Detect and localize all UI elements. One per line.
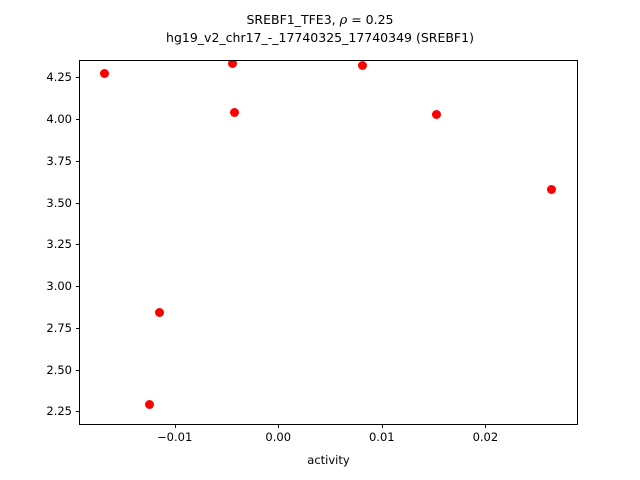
x-axis-tick-label: 0.02 — [473, 430, 499, 444]
x-axis-tick-label: −0.01 — [157, 430, 192, 444]
y-axis-tick — [76, 328, 80, 329]
x-axis-tick — [382, 424, 383, 428]
data-point — [100, 69, 109, 78]
data-point — [432, 110, 441, 119]
y-axis-tick-label: 2.75 — [46, 321, 72, 335]
y-axis-tick-label: 3.75 — [46, 154, 72, 168]
plot-axes: 2.252.502.753.003.253.503.754.004.25−0.0… — [79, 60, 578, 425]
y-axis-tick-label: 2.25 — [46, 404, 72, 418]
x-axis-tick — [485, 424, 486, 428]
data-point — [145, 400, 154, 409]
data-point — [155, 308, 164, 317]
chart-title-block: SREBF1_TFE3, ρ = 0.25 hg19_v2_chr17_-_17… — [0, 11, 640, 46]
y-axis-tick — [76, 244, 80, 245]
y-axis-tick — [76, 370, 80, 371]
chart-title-line-1: SREBF1_TFE3, ρ = 0.25 — [0, 11, 640, 29]
y-axis-tick — [76, 286, 80, 287]
y-axis-tick-label: 3.50 — [46, 196, 72, 210]
y-axis-tick-label: 2.50 — [46, 363, 72, 377]
y-axis-tick — [76, 161, 80, 162]
plot-data-area — [80, 61, 577, 424]
scatter-plot-figure: SREBF1_TFE3, ρ = 0.25 hg19_v2_chr17_-_17… — [0, 0, 640, 480]
chart-title-suffix: = 0.25 — [347, 12, 393, 27]
x-axis-tick — [278, 424, 279, 428]
chart-subtitle: hg19_v2_chr17_-_17740325_17740349 (SREBF… — [0, 29, 640, 46]
data-point — [230, 108, 239, 117]
y-axis-tick-label: 3.00 — [46, 279, 72, 293]
data-point — [358, 61, 367, 70]
y-axis-tick-label: 4.25 — [46, 70, 72, 84]
y-axis-tick-label: 4.00 — [46, 112, 72, 126]
chart-title-prefix: SREBF1_TFE3, — [246, 12, 339, 27]
x-axis-tick — [175, 424, 176, 428]
data-point — [547, 185, 556, 194]
y-axis-tick — [76, 411, 80, 412]
y-axis-tick — [76, 77, 80, 78]
y-axis-tick-label: 3.25 — [46, 237, 72, 251]
x-axis-tick-label: 0.01 — [369, 430, 395, 444]
x-axis-tick-label: 0.00 — [265, 430, 291, 444]
y-axis-tick — [76, 203, 80, 204]
data-point — [228, 61, 237, 68]
y-axis-tick — [76, 119, 80, 120]
x-axis-label: activity — [79, 453, 578, 467]
